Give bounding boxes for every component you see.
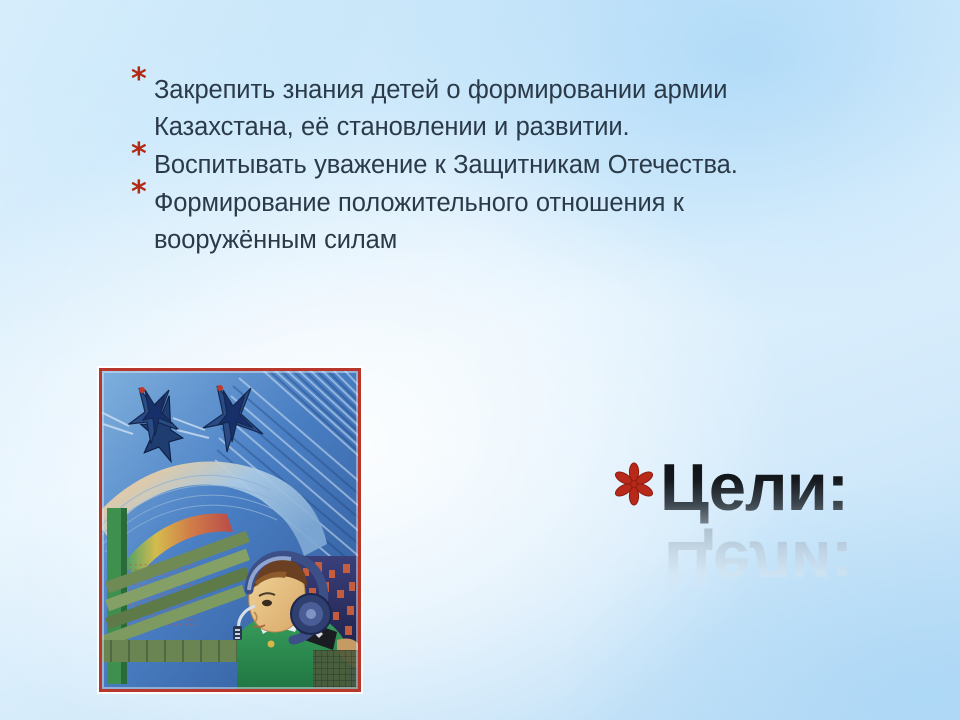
list-item: * Формирование положительного отношения … bbox=[131, 185, 831, 259]
asterisk-flower-icon bbox=[612, 462, 656, 518]
list-item-label: Закрепить знания детей о формировании ар… bbox=[154, 72, 831, 146]
list-item: * Воспитывать уважение к Защитникам Отеч… bbox=[131, 147, 831, 184]
page-title-reflection: Цели: bbox=[660, 528, 852, 600]
military-poster-canvas bbox=[99, 368, 361, 692]
military-poster-image bbox=[97, 366, 363, 694]
page-title-label: Цели: bbox=[656, 452, 848, 524]
asterisk-bullet-icon: * bbox=[131, 68, 151, 92]
list-item-label: Воспитывать уважение к Защитникам Отечес… bbox=[154, 147, 831, 184]
asterisk-bullet-icon: * bbox=[131, 143, 151, 167]
asterisk-bullet-icon: * bbox=[131, 181, 151, 205]
military-poster-artwork bbox=[99, 368, 361, 692]
slide-canvas: * Закрепить знания детей о формировании … bbox=[0, 0, 960, 720]
list-item-label: Формирование положительного отношения к … bbox=[154, 185, 831, 259]
list-item: * Закрепить знания детей о формировании … bbox=[131, 72, 831, 146]
bullet-list: * Закрепить знания детей о формировании … bbox=[131, 72, 831, 260]
title-row: Цели: bbox=[612, 452, 942, 524]
page-title: Цели: Цели: bbox=[612, 452, 942, 582]
